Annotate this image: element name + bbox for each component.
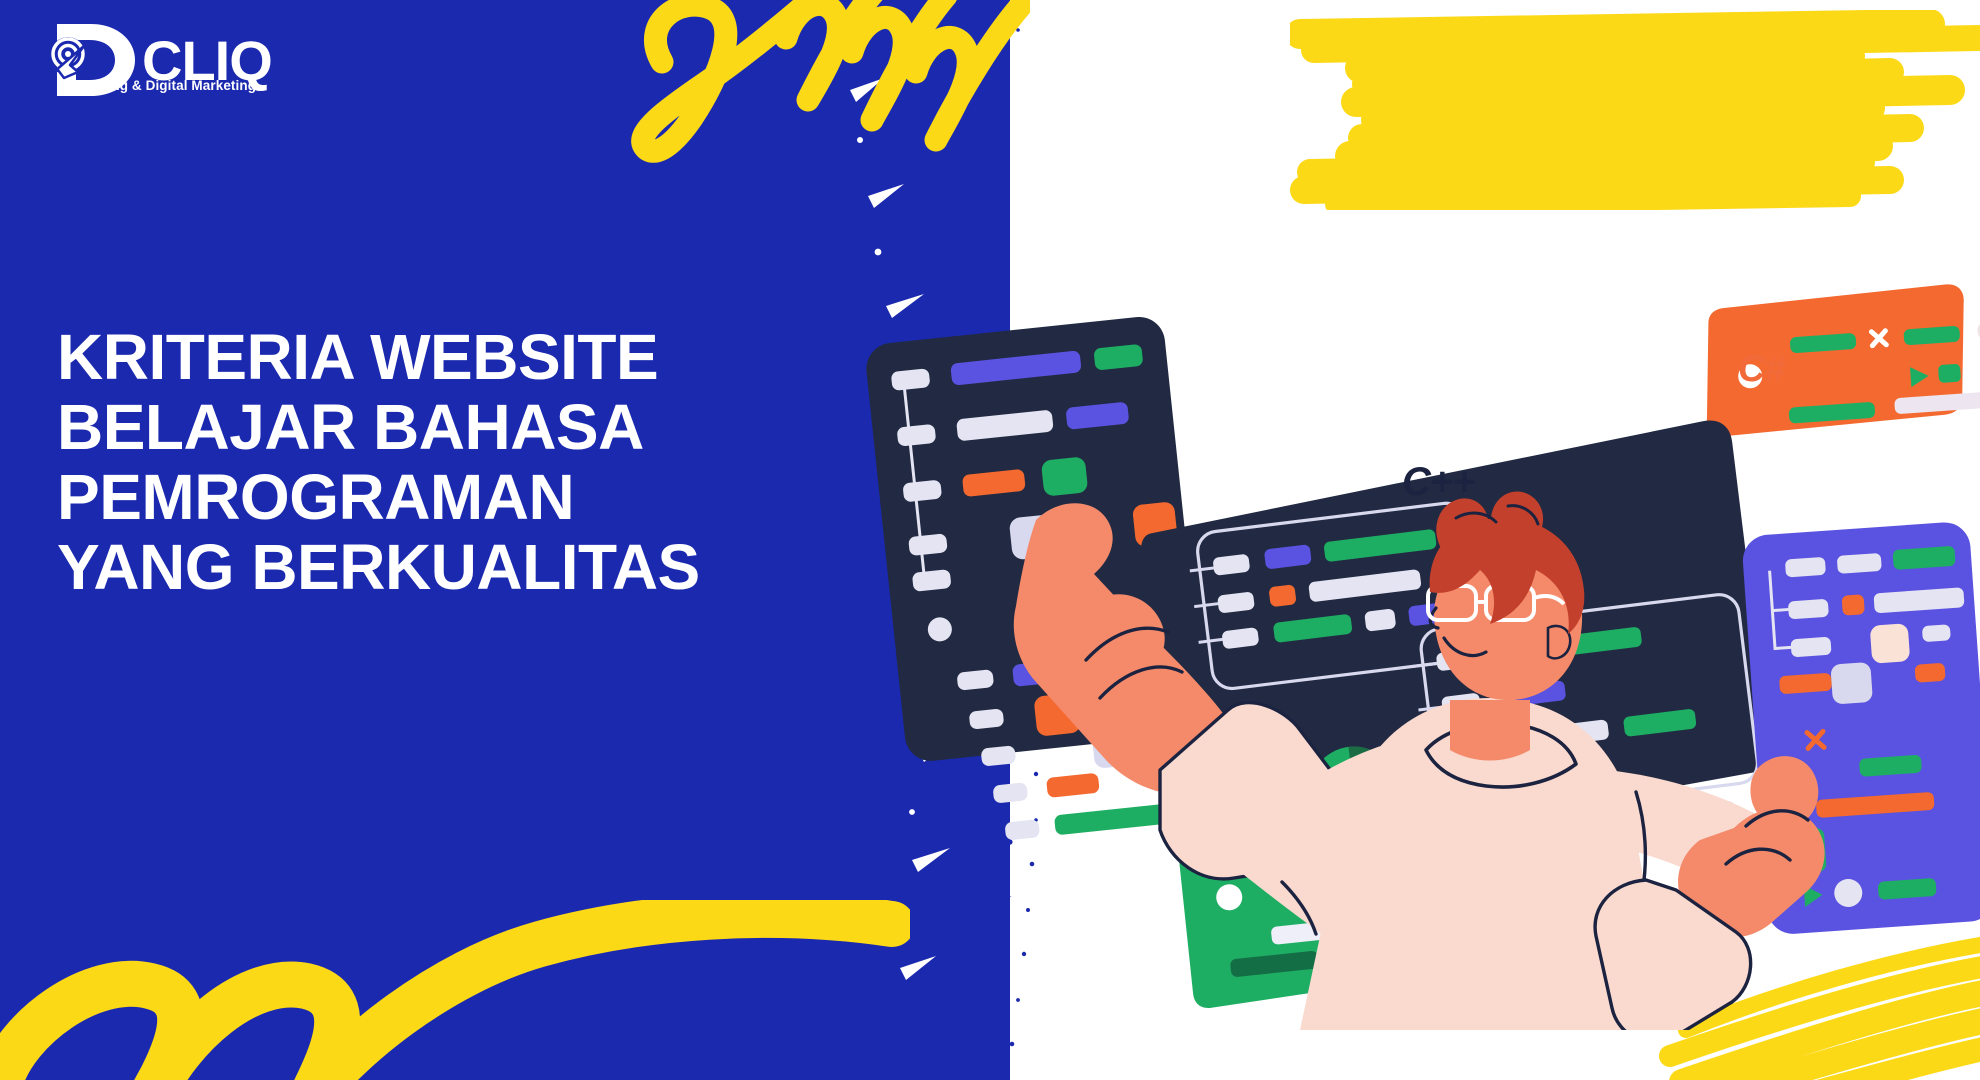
headline-line-1: KRITERIA WEBSITE [57, 322, 757, 392]
brush-stroke-top-block [1290, 10, 1980, 210]
label-cpp: C++ [1402, 460, 1475, 505]
headline-line-4: YANG BERKUALITAS [57, 532, 757, 602]
brand-logo[interactable]: CLIQ Branding & Digital Marketing [24, 16, 284, 100]
label-csharp: C# [1738, 348, 1785, 391]
headline-line-3: PEMROGRAMAN [57, 462, 757, 532]
page-title: KRITERIA WEBSITE BELAJAR BAHASA PEMROGRA… [57, 322, 757, 602]
headline-line-2: BELAJAR BAHASA [57, 392, 757, 462]
poster-canvas: CLIQ Branding & Digital Marketing KRITER… [0, 0, 1980, 1080]
programmer-illustration [830, 230, 1980, 1030]
logo-tagline: Branding & Digital Marketing [68, 78, 268, 93]
